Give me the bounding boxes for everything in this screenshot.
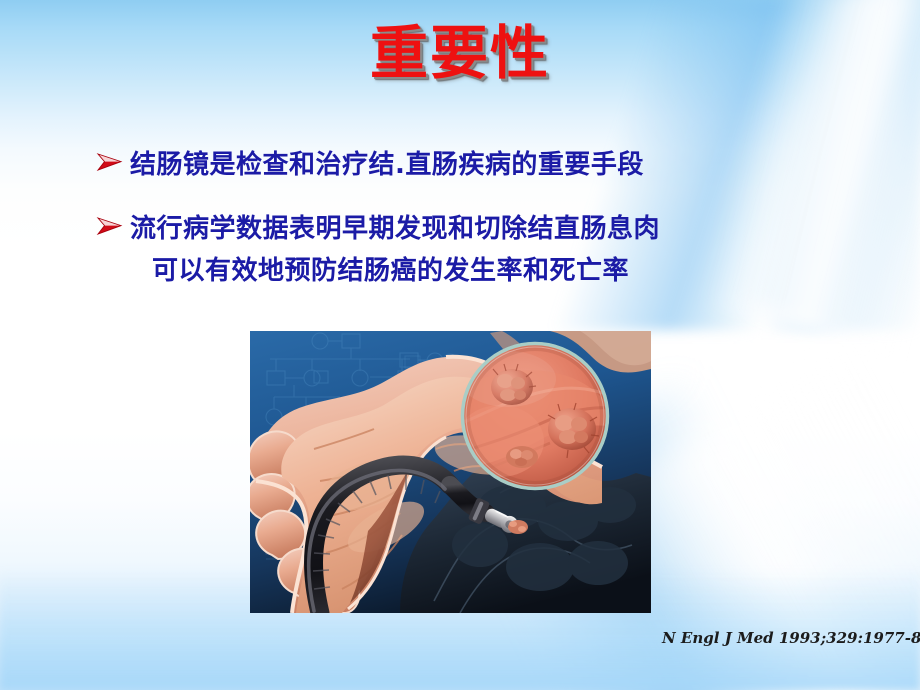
arrow-bullet-icon (96, 144, 130, 174)
bullet-item-1-line-1: 结肠镜是检查和治疗结.直肠疾病的重要手段 (130, 144, 866, 186)
bullet-item-2: 流行病学数据表明早期发现和切除结直肠息肉 可以有效地预防结肠癌的发生率和死亡率 (96, 208, 866, 292)
bullet-item-2-line-2: 可以有效地预防结肠癌的发生率和死亡率 (130, 250, 866, 292)
arrow-bullet-icon (96, 208, 130, 238)
slide-root: 重要性 结肠镜是检查和治疗结.直肠疾病的重要手段 (0, 0, 920, 690)
bullet-item-2-body: 流行病学数据表明早期发现和切除结直肠息肉 可以有效地预防结肠癌的发生率和死亡率 (130, 208, 866, 292)
bullet-list: 结肠镜是检查和治疗结.直肠疾病的重要手段 流行病学数据表明早期发现和切除结直肠息… (96, 144, 866, 314)
bullet-item-1: 结肠镜是检查和治疗结.直肠疾病的重要手段 (96, 144, 866, 186)
citation-reference: N Engl J Med 1993;329:1977-81. (662, 628, 920, 648)
bullet-item-2-line-1: 流行病学数据表明早期发现和切除结直肠息肉 (130, 208, 866, 250)
bullet-item-1-body: 结肠镜是检查和治疗结.直肠疾病的重要手段 (130, 144, 866, 186)
colonoscopy-illustration (250, 331, 651, 613)
page-title: 重要性 (0, 20, 920, 86)
